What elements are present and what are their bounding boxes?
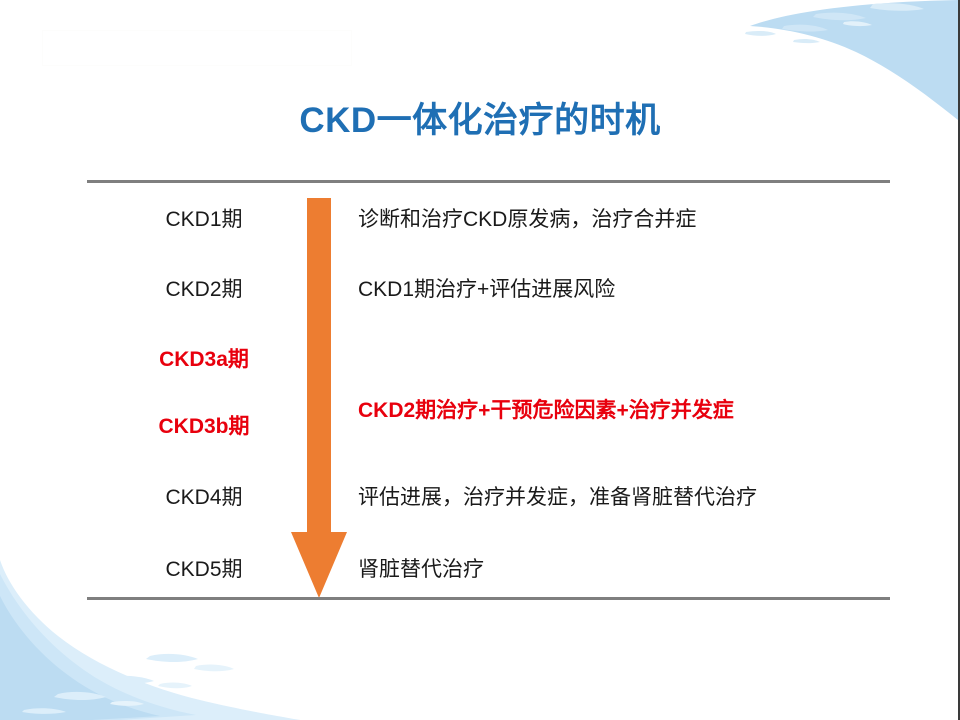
table-bottom-rule — [87, 597, 890, 600]
stage-label-ckd3b: CKD3b期 — [120, 410, 288, 440]
table-top-rule — [87, 180, 890, 183]
title-placeholder-box — [42, 30, 352, 66]
stage-label-ckd3a: CKD3a期 — [120, 343, 288, 373]
decorative-wave-bottom-left — [0, 560, 300, 720]
stage-description-ckd4: 评估进展，治疗并发症，准备肾脏替代治疗 — [358, 481, 757, 511]
stage-description-ckd2: CKD1期治疗+评估进展风险 — [358, 273, 615, 303]
stage-label-ckd5: CKD5期 — [120, 553, 288, 583]
slide-title: CKD一体化治疗的时机 — [0, 92, 960, 143]
slide-canvas: CKD一体化治疗的时机 CKD1期 CKD2期 CKD3a期 CKD3b期 CK… — [0, 0, 960, 720]
stage-description-ckd5: 肾脏替代治疗 — [358, 553, 484, 583]
stage-description-ckd1: 诊断和治疗CKD原发病，治疗合并症 — [358, 203, 696, 233]
downward-progression-arrow — [283, 198, 355, 598]
stage-description-ckd3-merged: CKD2期治疗+干预危险因素+治疗并发症 — [358, 394, 734, 424]
stage-label-ckd2: CKD2期 — [120, 273, 288, 303]
stage-label-ckd4: CKD4期 — [120, 481, 288, 511]
stage-label-ckd1: CKD1期 — [120, 203, 288, 233]
